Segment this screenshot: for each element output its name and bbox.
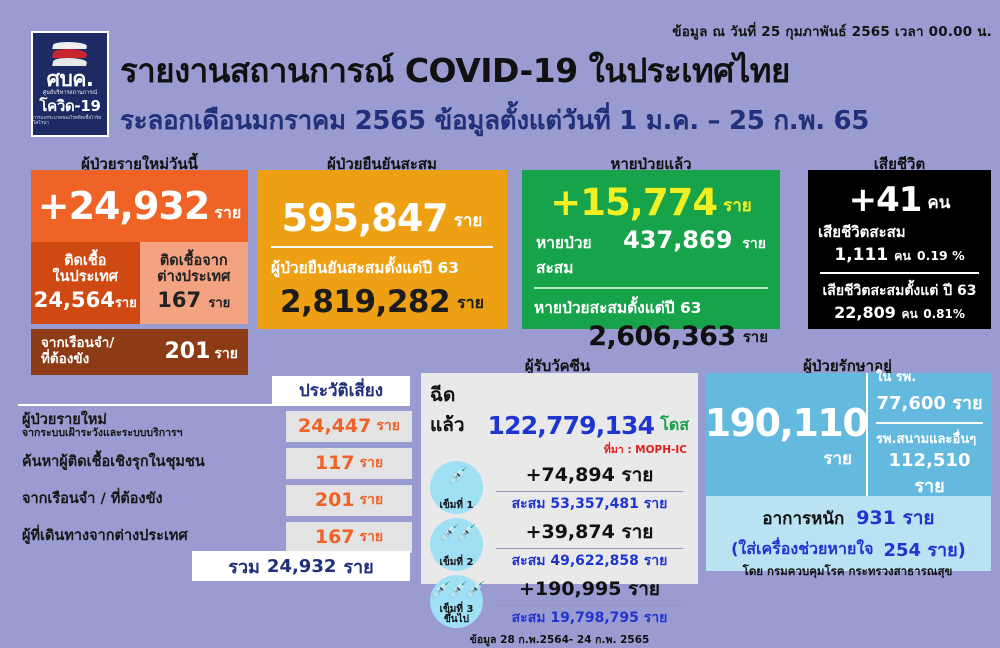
risk-history-tab: ประวัติเสี่ยง — [272, 376, 410, 404]
risk-history-list: ผู้ป่วยรายใหม่จากระบบเฝ้าระวังและระบบบริ… — [16, 409, 412, 557]
risk-row-value-box: 201ราย — [286, 485, 412, 516]
vaccination-dose-row: 💉💉💉เข็มที่ 3ขึ้นไป+190,995 รายสะสม 19,79… — [430, 574, 689, 629]
imported-value: 167 — [157, 288, 201, 312]
recovered-cumulative-row: หายป่วยสะสม 437,869 ราย — [534, 224, 768, 280]
treatment-breakdown: ใน รพ. 77,600 ราย รพ.สนามและอื่นๆ 112,51… — [866, 373, 991, 496]
prison-label-line1: จากเรือนจำ/ — [41, 336, 114, 352]
dose-cumulative-value: สะสม 53,357,481 ราย — [490, 493, 689, 515]
risk-row-value: 117 — [315, 452, 355, 474]
new-cases-value: +24,932 — [38, 184, 209, 228]
recovered-since63-row: 2,606,363 ราย — [534, 321, 768, 352]
treatment-panel: 190,110 ราย ใน รพ. 77,600 ราย รพ.สนามและ… — [706, 373, 991, 571]
deaths-since63-value: 22,809 — [834, 303, 896, 322]
vaccination-injected-unit: โดส — [660, 413, 689, 440]
domestic-value-row: 24,564ราย — [34, 288, 137, 313]
confirmed-divider — [271, 246, 493, 248]
dose-circle-label-2: ขึ้นไป — [440, 615, 474, 625]
recovered-cum-unit: ราย — [742, 233, 766, 255]
recovered-value: +15,774 — [550, 181, 717, 224]
new-cases-breakdown: ติดเชื้อ ในประเทศ 24,564ราย ติดเชื้อจาก … — [31, 242, 248, 324]
dose-cumulative-value: สะสม 19,798,795 ราย — [490, 607, 689, 629]
deaths-cum-row: 1,111 คน 0.19 % — [818, 245, 981, 266]
deaths-divider — [820, 272, 979, 274]
risk-row-label-line1: ผู้ที่เดินทางจากต่างประเทศ — [22, 529, 188, 544]
dose-today-value: +74,894 ราย — [490, 460, 689, 490]
logo-sub-text-2: การแพร่ระบาดของโรคติดเชื้อไวรัสโคโรนา — [33, 117, 107, 126]
recovered-unit: ราย — [723, 192, 752, 224]
new-cases-value-row: +24,932 ราย — [31, 170, 248, 242]
vaccination-dose-row: 💉💉เข็มที่ 2+39,874 รายสะสม 49,622,858 รา… — [430, 517, 689, 572]
risk-row: จากเรือนจำ / ที่ต้องขัง201ราย — [16, 483, 412, 517]
page-title: รายงานสถานการณ์ COVID-19 ในประเทศไทย — [120, 44, 790, 97]
dose-divider — [496, 491, 683, 492]
risk-row-label: ผู้ป่วยรายใหม่จากระบบเฝ้าระวังและระบบบริ… — [16, 413, 183, 439]
recovered-cum-label: หายป่วยสะสม — [536, 230, 613, 280]
imported-label-line1: ติดเชื้อจาก — [157, 253, 230, 269]
confirmed-since63-row: 2,819,282 ราย — [271, 284, 493, 320]
recovered-since63-value: 2,606,363 — [588, 321, 736, 352]
confirmed-value: 595,847 — [282, 196, 448, 240]
logo-sub-text-1: ศูนย์บริหารสถานการณ์ — [43, 91, 98, 97]
risk-row-unit: ราย — [360, 452, 384, 474]
risk-row-value: 24,447 — [298, 415, 371, 437]
confirmed-unit: ราย — [454, 207, 483, 240]
syringe-glyphs: 💉💉 — [430, 523, 483, 542]
deaths-card: +41 คน เสียชีวิตสะสม 1,111 คน 0.19 % เสี… — [808, 170, 991, 329]
confirmed-since63-unit: ราย — [457, 291, 484, 320]
imported-value-row: 167 ราย — [157, 288, 230, 313]
risk-row-label: ค้นหาผู้ติดเชื้อเชิงรุกในชุมชน — [16, 455, 205, 470]
risk-total-value: 24,932 — [267, 556, 336, 577]
syringe-glyphs: 💉💉💉 — [430, 580, 483, 599]
dose-circle-label: เข็มที่ 2 — [440, 558, 474, 568]
vaccination-dose-row: 💉เข็มที่ 1+74,894 รายสะสม 53,357,481 ราย — [430, 460, 689, 515]
dose-cumulative-value: สะสม 49,622,858 ราย — [490, 550, 689, 572]
risk-row-unit: ราย — [360, 526, 384, 548]
vaccination-dose-rows: 💉เข็มที่ 1+74,894 รายสะสม 53,357,481 ราย… — [430, 460, 689, 629]
syringe-2-icon: 💉💉เข็มที่ 2 — [430, 518, 483, 571]
vaccination-injected-label: ฉีดแล้ว — [430, 380, 482, 440]
deaths-cum-value: 1,111 — [834, 245, 888, 265]
syringe-glyphs: 💉 — [430, 466, 483, 485]
domestic-cases-cell: ติดเชื้อ ในประเทศ 24,564ราย — [31, 242, 140, 324]
new-cases-unit: ราย — [214, 187, 241, 226]
vaccination-footnote: ข้อมูล 28 ก.พ.2564- 24 ก.พ. 2565 — [430, 631, 689, 648]
logo-main-text: ศบค. — [47, 69, 94, 90]
risk-row: ผู้ที่เดินทางจากต่างประเทศ167ราย — [16, 520, 412, 554]
confirmed-since63-label: ผู้ป่วยยืนยันสะสมตั้งแต่ปี 63 — [271, 255, 493, 280]
recovered-divider — [534, 287, 768, 289]
domestic-label-line1: ติดเชื้อ — [53, 253, 119, 269]
logo-covid-text: โควิด-19 — [39, 99, 100, 114]
treatment-top: 190,110 ราย ใน รพ. 77,600 ราย รพ.สนามและ… — [706, 373, 991, 496]
prison-cases-row: จากเรือนจำ/ ที่ต้องขัง 201ราย — [31, 329, 248, 375]
treatment-divider — [876, 422, 983, 424]
risk-row-unit: ราย — [376, 415, 400, 437]
risk-row-label: ผู้ที่เดินทางจากต่างประเทศ — [16, 529, 188, 544]
severe-value: 931 ราย — [856, 503, 934, 533]
risk-row: ค้นหาผู้ติดเชื้อเชิงรุกในชุมชน117ราย — [16, 446, 412, 480]
recovered-cum-value: 437,869 — [623, 226, 732, 254]
risk-row-value-box: 24,447ราย — [286, 411, 412, 442]
risk-row: ผู้ป่วยรายใหม่จากระบบเฝ้าระวังและระบบบริ… — [16, 409, 412, 443]
deaths-cum-label: เสียชีวิตสะสม — [818, 220, 981, 244]
ventilator-label: (ใส่เครื่องช่วยหายใจ — [731, 537, 873, 562]
domestic-label-line2: ในประเทศ — [53, 269, 119, 285]
dose-today-value: +39,874 ราย — [490, 517, 689, 547]
credit-text: โดย กรมควบคุมโรค กระทรวงสาธารณสุข — [700, 563, 995, 581]
risk-row-label-line2: จากระบบเฝ้าระวังและระบบบริการฯ — [22, 428, 183, 439]
vaccination-total-row: ฉีดแล้ว 122,779,134 โดส — [430, 380, 689, 440]
imported-unit: ราย — [208, 296, 230, 311]
confirmed-since63-value: 2,819,282 — [280, 284, 450, 320]
deaths-unit: คน — [927, 189, 950, 220]
sbc-logo: ศบค. ศูนย์บริหารสถานการณ์ โควิด-19 การแพ… — [31, 31, 109, 137]
deaths-value: +41 — [849, 180, 922, 220]
prison-value-row: 201ราย — [164, 339, 238, 365]
recovered-value-row: +15,774 ราย — [534, 174, 768, 224]
prison-label-line2: ที่ต้องขัง — [41, 352, 114, 368]
hospital-label: ใน รพ. — [876, 366, 983, 387]
severe-label: อาการหนัก — [762, 505, 844, 532]
syringe-3-icon: 💉💉💉เข็มที่ 3ขึ้นไป — [430, 575, 483, 628]
risk-row-label-line1: ผู้ป่วยรายใหม่ — [22, 413, 183, 428]
ventilator-value: 254 ราย) — [884, 535, 966, 564]
treatment-total-cell: 190,110 ราย — [706, 373, 866, 496]
risk-row-value-box: 167ราย — [286, 522, 412, 553]
dose-divider — [496, 548, 683, 549]
hospital-value: 77,600 ราย — [876, 388, 983, 417]
deaths-value-row: +41 คน — [818, 176, 981, 220]
risk-row-label-line1: ค้นหาผู้ติดเชื้อเชิงรุกในชุมชน — [22, 455, 205, 470]
imported-cases-cell: ติดเชื้อจาก ต่างประเทศ 167 ราย — [140, 242, 249, 324]
deaths-cum-unit: คน — [894, 248, 911, 263]
treatment-total-value: 190,110 — [705, 401, 868, 445]
recovered-since63-label: หายป่วยสะสมตั้งแต่ปี 63 — [534, 295, 768, 320]
deaths-since63-label: เสียชีวิตสะสมตั้งแต่ ปี 63 — [818, 280, 981, 302]
risk-history-rule — [18, 404, 410, 406]
page-subtitle: ระลอกเดือนมกราคม 2565 ข้อมูลตั้งแต่วันที… — [120, 100, 869, 141]
treatment-severe: อาการหนัก 931 ราย (ใส่เครื่องช่วยหายใจ 2… — [706, 496, 991, 571]
risk-total-unit: ราย — [343, 552, 373, 581]
risk-row-label: จากเรือนจำ / ที่ต้องขัง — [16, 492, 163, 507]
deaths-since63-pct: 0.81% — [923, 307, 965, 321]
field-hospital-label: รพ.สนามและอื่นๆ — [876, 428, 983, 449]
dose-circle-label: เข็มที่ 1 — [440, 501, 474, 511]
field-hospital-value: 112,510 ราย — [876, 450, 983, 500]
confirmed-value-row: 595,847 ราย — [271, 176, 493, 240]
imported-label-line2: ต่างประเทศ — [157, 269, 230, 285]
recovered-since63-unit: ราย — [743, 325, 768, 352]
thai-flag-ribbon-icon — [53, 42, 87, 68]
dose-circle-label: เข็มที่ 3 — [440, 605, 474, 615]
risk-total-label: รวม — [228, 552, 260, 581]
prison-unit: ราย — [214, 346, 238, 362]
vaccination-injected-value: 122,779,134 — [488, 411, 655, 440]
risk-row-value: 167 — [315, 526, 355, 548]
treatment-total-unit: ราย — [823, 445, 866, 472]
risk-history-total: รวม 24,932 ราย — [192, 551, 410, 581]
vaccination-source: ที่มา : MOPH-IC — [430, 441, 687, 458]
deaths-since63-row: 22,809 คน 0.81% — [818, 303, 981, 324]
deaths-cum-pct: 0.19 % — [917, 248, 965, 263]
dose-divider — [496, 605, 683, 606]
domestic-value: 24,564 — [34, 288, 115, 312]
domestic-unit: ราย — [115, 296, 137, 311]
risk-row-label-line1: จากเรือนจำ / ที่ต้องขัง — [22, 492, 163, 507]
syringe-1-icon: 💉เข็มที่ 1 — [430, 461, 483, 514]
risk-row-value: 201 — [315, 489, 355, 511]
vaccination-panel: ฉีดแล้ว 122,779,134 โดส ที่มา : MOPH-IC … — [421, 373, 698, 584]
risk-row-unit: ราย — [360, 489, 384, 511]
data-timestamp: ข้อมูล ณ วันที่ 25 กุมภาพันธ์ 2565 เวลา … — [0, 20, 992, 42]
new-cases-card: +24,932 ราย ติดเชื้อ ในประเทศ 24,564ราย … — [31, 170, 248, 375]
prison-value: 201 — [164, 339, 210, 364]
cumulative-confirmed-card: 595,847 ราย ผู้ป่วยยืนยันสะสมตั้งแต่ปี 6… — [257, 170, 507, 329]
recovered-card: +15,774 ราย หายป่วยสะสม 437,869 ราย หายป… — [522, 170, 780, 329]
deaths-since63-unit: คน — [901, 307, 917, 321]
risk-row-value-box: 117ราย — [286, 448, 412, 479]
